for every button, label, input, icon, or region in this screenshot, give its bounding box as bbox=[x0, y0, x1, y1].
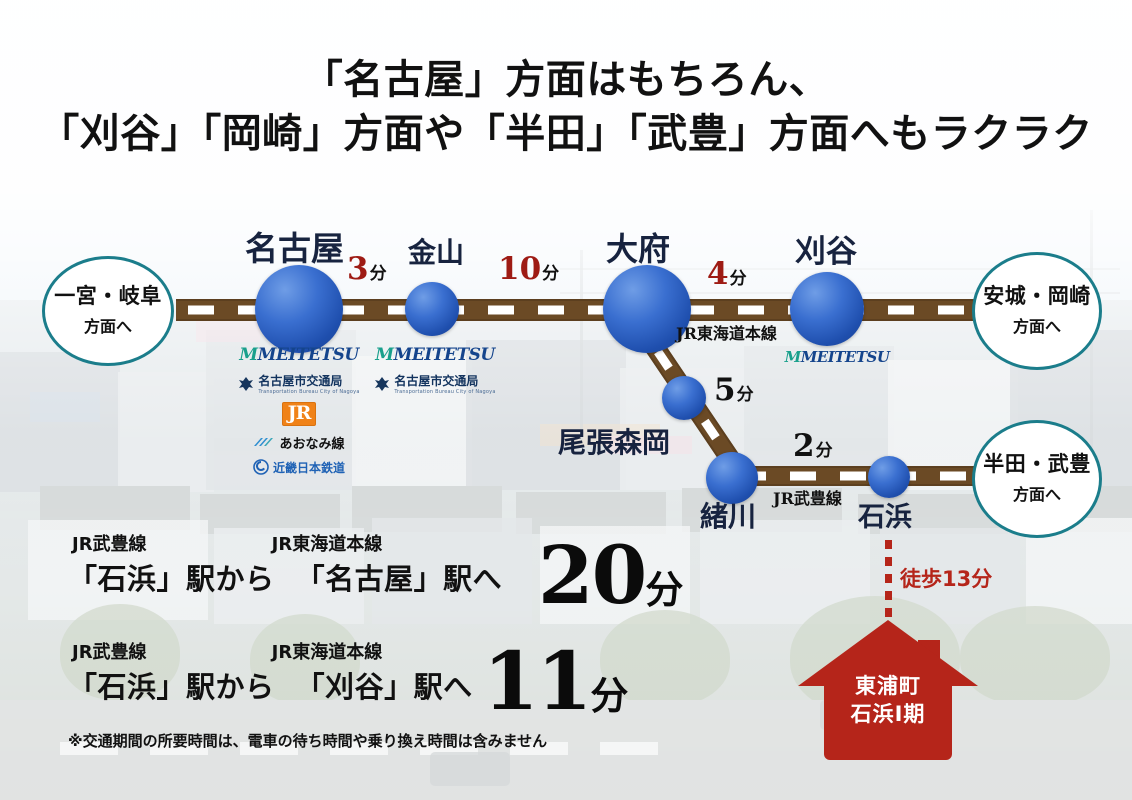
meitetsu-logo: MMEITETSU bbox=[375, 345, 494, 365]
meitetsu-logo-label: MEITETSU bbox=[258, 345, 359, 365]
station-node-ishihama[interactable] bbox=[868, 456, 910, 498]
nagoya-city-transportation-logo: 名古屋市交通局 Transportation Bureau City of Na… bbox=[374, 372, 495, 395]
operator-logos-nagoya: MMEITETSU 名古屋市交通局 Transportation Bureau … bbox=[222, 345, 376, 476]
summary-minutes-to-kariya: 11分 bbox=[483, 634, 628, 728]
station-label-kanayama: 金山 bbox=[408, 231, 464, 271]
destination-label-secondary: 方面へ bbox=[1013, 313, 1061, 337]
aonami-logo-label: あおなみ線 bbox=[279, 433, 344, 452]
line-label-tokaido: JR東海道本線 bbox=[676, 320, 777, 344]
destination-label-primary: 一宮・岐阜 bbox=[54, 285, 162, 308]
station-label-obu: 大府 bbox=[606, 224, 670, 270]
station-node-kanayama[interactable] bbox=[405, 282, 459, 336]
city-transport-mark-icon bbox=[238, 376, 254, 392]
operator-logos-kariya: MMEITETSU bbox=[782, 348, 892, 366]
property-name-line-2: 石浜Ⅰ期 bbox=[798, 700, 978, 728]
station-label-ogawa: 緒川 bbox=[700, 495, 756, 535]
city-transport-mark-icon bbox=[374, 376, 390, 392]
station-node-kariya[interactable] bbox=[790, 272, 864, 346]
meitetsu-logo-label: MEITETSU bbox=[801, 348, 890, 366]
city-transport-sublabel: Transportation Bureau City of Nagoya bbox=[394, 389, 495, 395]
segment-minutes-nagoya-kanayama: 3分 bbox=[347, 251, 387, 287]
segment-minutes-ogawa-ishihama: 2分 bbox=[793, 428, 833, 464]
line-label-taketoyo: JR武豊線 bbox=[773, 485, 842, 509]
segment-minutes-obu-kariya: 4分 bbox=[707, 256, 747, 292]
minutes-unit: 分 bbox=[730, 269, 747, 289]
summary-to-line: JR東海道本線 bbox=[272, 534, 383, 555]
aonami-mark-icon bbox=[253, 436, 275, 449]
jr-logo: JR bbox=[282, 402, 317, 426]
meitetsu-logo: MMEITETSU bbox=[239, 345, 358, 365]
destination-label-primary: 安城・岡崎 bbox=[983, 285, 1091, 308]
minutes-unit: 分 bbox=[737, 385, 754, 405]
summary-from-station: 「石浜」駅から bbox=[68, 562, 275, 596]
summary-row-to-nagoya: JR武豊線 JR東海道本線 bbox=[72, 530, 382, 556]
minutes-value: 4 bbox=[707, 256, 729, 292]
kintetsu-mark-icon bbox=[253, 459, 269, 475]
aonami-logo: あおなみ線 bbox=[253, 433, 344, 452]
station-node-owarimorioka[interactable] bbox=[662, 376, 706, 420]
page-title: 「名古屋」方面はもちろん、 「刈谷」「岡崎」方面や「半田」「武豊」方面へもラクラ… bbox=[0, 54, 1132, 161]
kintetsu-logo-label: 近畿日本鉄道 bbox=[273, 459, 345, 476]
segment-minutes-kanayama-obu: 10分 bbox=[498, 251, 559, 287]
destination-circle-east[interactable]: 安城・岡崎 方面へ bbox=[972, 252, 1102, 370]
destination-label-secondary: 方面へ bbox=[84, 313, 132, 337]
rail-taketoyo-main bbox=[726, 466, 994, 486]
summary-minutes-to-nagoya: 20分 bbox=[538, 528, 683, 622]
house-label: 東浦町 石浜Ⅰ期 bbox=[798, 672, 978, 729]
summary-from-line: JR武豊線 bbox=[72, 642, 147, 663]
headline-line-1: 「名古屋」方面はもちろん、 bbox=[0, 54, 1132, 108]
station-label-kariya: 刈谷 bbox=[795, 226, 857, 271]
destination-label-primary: 半田・武豊 bbox=[983, 453, 1091, 476]
minutes-unit: 分 bbox=[542, 264, 559, 284]
walking-time-label: 徒歩13分 bbox=[900, 563, 992, 593]
property-name-line-1: 東浦町 bbox=[798, 672, 978, 700]
summary-from-line: JR武豊線 bbox=[72, 534, 147, 555]
station-label-ishihama: 石浜 bbox=[858, 495, 912, 534]
summary-minutes-value: 20 bbox=[538, 528, 645, 622]
summary-minutes-value: 11 bbox=[483, 634, 590, 728]
summary-minutes-unit: 分 bbox=[590, 674, 628, 718]
summary-to-station: 「名古屋」駅へ bbox=[296, 562, 503, 596]
minutes-unit: 分 bbox=[370, 264, 387, 284]
summary-row-to-kariya-stations: 「石浜」駅から 「刈谷」駅へ bbox=[68, 664, 473, 706]
summary-to-line: JR東海道本線 bbox=[272, 642, 383, 663]
destination-circle-west[interactable]: 一宮・岐阜 方面へ bbox=[42, 256, 174, 366]
summary-minutes-unit: 分 bbox=[645, 568, 683, 612]
minutes-value: 5 bbox=[714, 372, 736, 408]
summary-from-station: 「石浜」駅から bbox=[68, 670, 275, 704]
segment-minutes-obu-owarimorioka: 5分 bbox=[714, 372, 754, 408]
operator-logos-kanayama: MMEITETSU 名古屋市交通局 Transportation Bureau … bbox=[358, 345, 512, 395]
city-transport-label: 名古屋市交通局 bbox=[258, 374, 342, 388]
walking-route-dotted-line bbox=[885, 540, 892, 628]
station-node-nagoya[interactable] bbox=[255, 265, 343, 353]
meitetsu-logo: MMEITETSU bbox=[785, 348, 890, 366]
minutes-value: 10 bbox=[498, 251, 541, 287]
footnote: ※交通期間の所要時間は、電車の待ち時間や乗り換え時間は含みません bbox=[68, 730, 547, 751]
summary-to-station: 「刈谷」駅へ bbox=[296, 670, 473, 704]
property-house-marker[interactable]: 東浦町 石浜Ⅰ期 bbox=[798, 620, 978, 760]
kintetsu-logo: 近畿日本鉄道 bbox=[253, 459, 345, 476]
minutes-value: 2 bbox=[793, 428, 815, 464]
summary-row-to-kariya: JR武豊線 JR東海道本線 bbox=[72, 638, 382, 664]
minutes-unit: 分 bbox=[816, 441, 833, 461]
summary-row-to-nagoya-stations: 「石浜」駅から 「名古屋」駅へ bbox=[68, 556, 502, 598]
minutes-value: 3 bbox=[347, 251, 369, 287]
meitetsu-logo-label: MEITETSU bbox=[394, 345, 495, 365]
station-label-nagoya: 名古屋 bbox=[245, 222, 344, 270]
destination-circle-south[interactable]: 半田・武豊 方面へ bbox=[972, 420, 1102, 538]
headline-line-2: 「刈谷」「岡崎」方面や「半田」「武豊」方面へもラクラク bbox=[0, 108, 1132, 162]
station-label-owarimorioka: 尾張森岡 bbox=[558, 421, 670, 461]
nagoya-city-transportation-logo: 名古屋市交通局 Transportation Bureau City of Na… bbox=[238, 372, 359, 395]
city-transport-label: 名古屋市交通局 bbox=[394, 374, 478, 388]
transit-access-infographic: 「名古屋」方面はもちろん、 「刈谷」「岡崎」方面や「半田」「武豊」方面へもラクラ… bbox=[0, 0, 1132, 800]
destination-label-secondary: 方面へ bbox=[1013, 481, 1061, 505]
jr-logo-label: JR bbox=[282, 402, 317, 426]
city-transport-sublabel: Transportation Bureau City of Nagoya bbox=[258, 389, 359, 395]
